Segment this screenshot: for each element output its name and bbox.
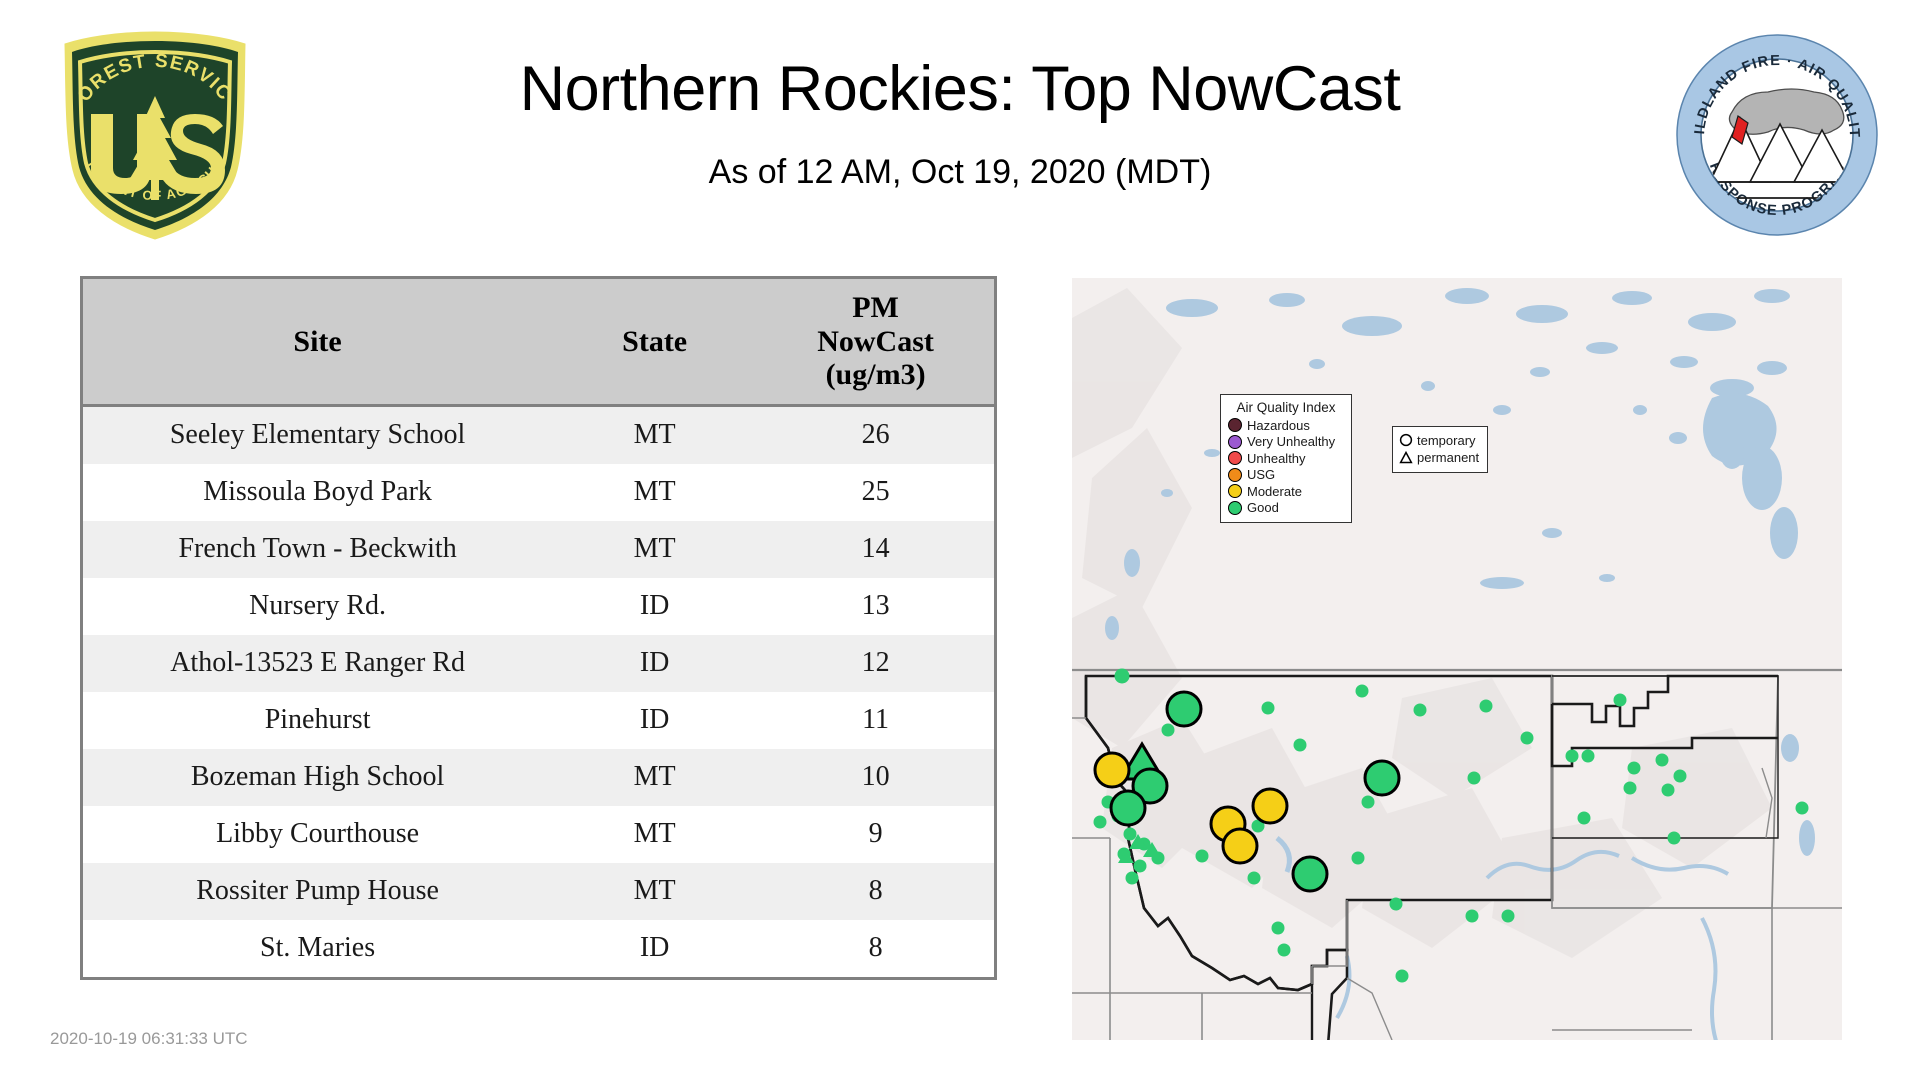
table-cell-state: MT <box>552 863 757 920</box>
table-cell-state: MT <box>552 521 757 578</box>
aqi-legend-label: Hazardous <box>1247 418 1310 433</box>
column-header-pm-line3: (ug/m3) <box>761 358 990 392</box>
table-cell-state: MT <box>552 749 757 806</box>
aqi-legend-label: Unhealthy <box>1247 451 1306 466</box>
aqi-legend-row: Good <box>1228 500 1344 517</box>
column-header-pm-line1: PM <box>761 291 990 325</box>
marker-legend-label-permanent: permanent <box>1417 450 1479 465</box>
table-cell-site: St. Maries <box>83 920 552 977</box>
aqi-legend-rows: HazardousVery UnhealthyUnhealthyUSGModer… <box>1228 417 1344 516</box>
column-header-state[interactable]: State <box>552 279 757 405</box>
forest-service-shield-icon: FOREST SERVICE DEPARTMENT OF AGRICULTURE <box>55 28 255 243</box>
table-cell-site: Bozeman High School <box>83 749 552 806</box>
table-row[interactable]: Nursery Rd.ID13 <box>83 578 994 635</box>
marker-legend-label-temporary: temporary <box>1417 433 1476 448</box>
table-cell-site: French Town - Beckwith <box>83 521 552 578</box>
monitor-libby-courthouse <box>1167 692 1201 726</box>
table-cell-state: ID <box>552 692 757 749</box>
table-header-row: Site State PM NowCast (ug/m3) <box>83 279 994 405</box>
aqi-legend-label: Very Unhealthy <box>1247 434 1335 449</box>
temporary-circle-icon <box>1399 433 1413 449</box>
monitor-moderate-nw <box>1095 753 1129 787</box>
aqi-legend-row: Hazardous <box>1228 417 1344 434</box>
column-header-pm-line2: NowCast <box>761 325 990 359</box>
page-title: Northern Rockies: Top NowCast <box>320 55 1600 123</box>
table-cell-site: Libby Courthouse <box>83 806 552 863</box>
aqi-swatch-icon <box>1228 451 1242 465</box>
table-cell-pm: 13 <box>757 578 994 635</box>
aqi-legend-label: USG <box>1247 467 1275 482</box>
marker-legend-row-temporary: temporary <box>1399 432 1479 449</box>
table-row[interactable]: Rossiter Pump HouseMT8 <box>83 863 994 920</box>
table-cell-pm: 8 <box>757 863 994 920</box>
aqi-swatch-icon <box>1228 484 1242 498</box>
table-row[interactable]: Libby CourthouseMT9 <box>83 806 994 863</box>
table-cell-site: Nursery Rd. <box>83 578 552 635</box>
aqi-swatch-icon <box>1228 418 1242 432</box>
table-cell-pm: 25 <box>757 464 994 521</box>
table-cell-site: Rossiter Pump House <box>83 863 552 920</box>
table-cell-pm: 11 <box>757 692 994 749</box>
aqi-legend-row: Unhealthy <box>1228 450 1344 467</box>
table-cell-state: MT <box>552 464 757 521</box>
aqi-legend-row: Very Unhealthy <box>1228 434 1344 451</box>
monitor-missoula-area <box>1111 791 1145 825</box>
aqi-legend-label: Moderate <box>1247 484 1302 499</box>
table-row[interactable]: Seeley Elementary SchoolMT26 <box>83 405 994 464</box>
nowcast-table: Site State PM NowCast (ug/m3) Seeley Ele… <box>83 279 994 977</box>
nowcast-table-panel: Site State PM NowCast (ug/m3) Seeley Ele… <box>80 276 997 980</box>
aqi-swatch-icon <box>1228 468 1242 482</box>
aqi-legend-title: Air Quality Index <box>1228 400 1344 415</box>
monitor-missoula-boyd-park <box>1223 829 1257 863</box>
table-cell-state: MT <box>552 405 757 464</box>
aqi-legend-label: Good <box>1247 500 1279 515</box>
monitor-bozeman-high-school <box>1293 857 1327 891</box>
table-row[interactable]: Missoula Boyd ParkMT25 <box>83 464 994 521</box>
table-row[interactable]: St. MariesID8 <box>83 920 994 977</box>
table-cell-site: Athol-13523 E Ranger Rd <box>83 635 552 692</box>
table-body: Seeley Elementary SchoolMT26Missoula Boy… <box>83 405 994 977</box>
footer-timestamp: 2020-10-19 06:31:33 UTC <box>50 1029 248 1049</box>
table-header: Site State PM NowCast (ug/m3) <box>83 279 994 405</box>
table-cell-pm: 8 <box>757 920 994 977</box>
monitor-moderate-central <box>1253 789 1287 823</box>
marker-legend-row-permanent: permanent <box>1399 449 1479 466</box>
column-header-pm-nowcast[interactable]: PM NowCast (ug/m3) <box>757 279 994 405</box>
table-cell-pm: 9 <box>757 806 994 863</box>
aqi-legend-row: Moderate <box>1228 483 1344 500</box>
table-cell-pm: 26 <box>757 405 994 464</box>
marker-type-legend: temporary permanent <box>1392 426 1488 473</box>
table-cell-pm: 14 <box>757 521 994 578</box>
table-cell-site: Missoula Boyd Park <box>83 464 552 521</box>
table-row[interactable]: French Town - BeckwithMT14 <box>83 521 994 578</box>
aqi-legend-row: USG <box>1228 467 1344 484</box>
air-quality-map[interactable]: Air Quality Index HazardousVery Unhealth… <box>1072 278 1842 1040</box>
table-cell-site: Seeley Elementary School <box>83 405 552 464</box>
column-header-site[interactable]: Site <box>83 279 552 405</box>
page-header: FOREST SERVICE DEPARTMENT OF AGRICULTURE… <box>0 0 1920 260</box>
aqi-swatch-icon <box>1228 435 1242 449</box>
table-cell-state: MT <box>552 806 757 863</box>
map-canvas <box>1072 278 1842 1040</box>
aqi-swatch-icon <box>1228 501 1242 515</box>
table-cell-state: ID <box>552 920 757 977</box>
monitor-rossiter-pump-house <box>1365 761 1399 795</box>
table-cell-state: ID <box>552 578 757 635</box>
table-row[interactable]: Athol-13523 E Ranger RdID12 <box>83 635 994 692</box>
page-subtitle: As of 12 AM, Oct 19, 2020 (MDT) <box>320 153 1600 192</box>
wfaqrp-program-icon: WILDLAND FIRE · AIR QUALITY RESPONSE PRO… <box>1672 30 1882 240</box>
table-cell-site: Pinehurst <box>83 692 552 749</box>
table-row[interactable]: Bozeman High SchoolMT10 <box>83 749 994 806</box>
table-cell-pm: 12 <box>757 635 994 692</box>
table-row[interactable]: PinehurstID11 <box>83 692 994 749</box>
aqi-legend: Air Quality Index HazardousVery Unhealth… <box>1220 394 1352 523</box>
table-cell-state: ID <box>552 635 757 692</box>
table-cell-pm: 10 <box>757 749 994 806</box>
title-block: Northern Rockies: Top NowCast As of 12 A… <box>320 55 1600 192</box>
permanent-triangle-icon <box>1399 450 1413 466</box>
